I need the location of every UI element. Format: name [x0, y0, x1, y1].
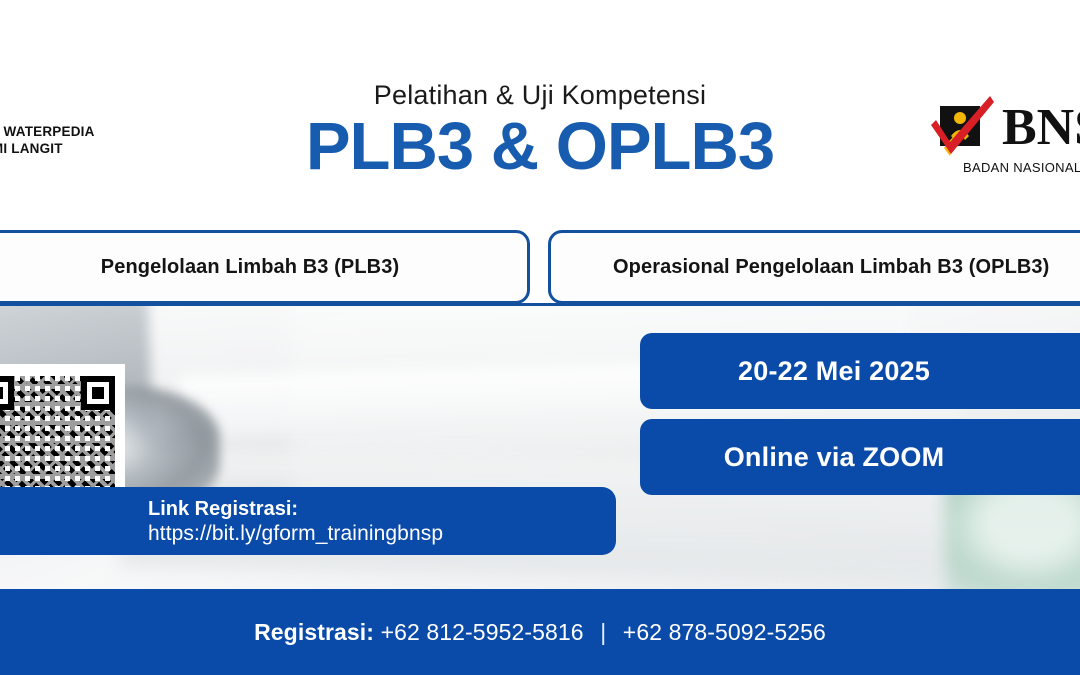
program-pill-oplb3[interactable]: Operasional Pengelolaan Limbah B3 (OPLB3… [548, 230, 1080, 304]
qr-finder-top-left [0, 376, 14, 410]
contact-line: Registrasi: +62 812-5952-5816 | +62 878-… [254, 619, 826, 646]
contact-separator: | [590, 619, 616, 645]
registration-link-box[interactable]: Link Registrasi: https://bit.ly/gform_tr… [0, 487, 616, 555]
banner-title: PLB3 & OPLB3 [0, 110, 1080, 184]
registration-link-url[interactable]: https://bit.ly/gform_trainingbnsp [148, 521, 616, 547]
event-venue-label: Online via ZOOM [724, 442, 945, 473]
program-pill-plb3-label: Pengelolaan Limbah B3 (PLB3) [101, 256, 399, 279]
contact-phone-2[interactable]: +62 878-5092-5256 [623, 619, 826, 645]
contact-label: Registrasi: [254, 619, 374, 645]
bnsp-subtitle: BADAN NASIONAL SERTIFIKASI PROFESI [963, 160, 1080, 175]
bnsp-logo: BNSP BADAN NASIONAL SERTIFIKASI PROFESI [930, 96, 1080, 190]
event-date-label: 20-22 Mei 2025 [738, 356, 930, 387]
banner-subtitle: Pelatihan & Uji Kompetensi [0, 78, 1080, 112]
bnsp-wordmark: BNSP [1002, 100, 1080, 156]
bnsp-emblem-icon [930, 96, 998, 168]
registration-link-label: Link Registrasi: [148, 497, 616, 521]
qr-finder-top-right [81, 376, 115, 410]
program-pill-plb3[interactable]: Pengelolaan Limbah B3 (PLB3) [0, 230, 530, 304]
contact-footer: Registrasi: +62 812-5952-5816 | +62 878-… [0, 589, 1080, 675]
program-pill-oplb3-label: Operasional Pengelolaan Limbah B3 (OPLB3… [613, 256, 1049, 279]
event-date-box: 20-22 Mei 2025 [640, 333, 1080, 409]
promo-banner: LPK WATERPEDIA BUMI LANGIT Pelatihan & U… [0, 0, 1080, 675]
title-block: Pelatihan & Uji Kompetensi PLB3 & OPLB3 [0, 78, 1080, 184]
contact-phone-1[interactable]: +62 812-5952-5816 [381, 619, 584, 645]
event-venue-box: Online via ZOOM [640, 419, 1080, 495]
